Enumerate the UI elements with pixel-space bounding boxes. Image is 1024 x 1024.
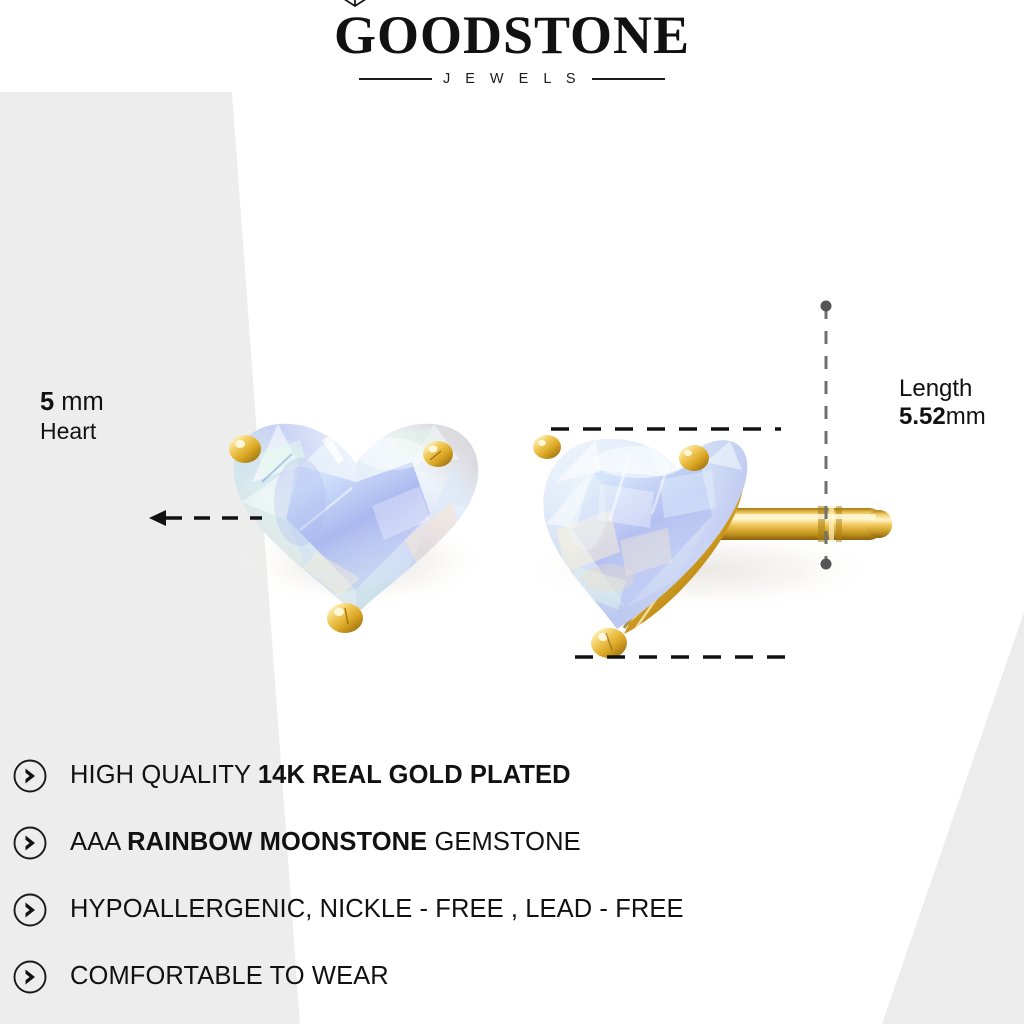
prong-bottom-front — [327, 603, 363, 633]
chevron-right-circle-icon — [12, 959, 48, 995]
feature-label: AAA RAINBOW MOONSTONE GEMSTONE — [70, 828, 581, 857]
brand-name: GOODSTONE — [334, 8, 690, 62]
width-value: 5 — [40, 388, 54, 416]
tagline-rule-right — [592, 78, 665, 80]
width-shape-label: Heart — [40, 416, 104, 447]
brand-logo: GOODSTONE J E W E L S — [0, 8, 1024, 87]
width-unit: mm — [54, 388, 104, 416]
length-annotation: Length 5.52mm — [899, 376, 986, 434]
feature-text-pre: AAA — [70, 828, 127, 856]
feature-item: AAA RAINBOW MOONSTONE GEMSTONE — [0, 809, 1024, 876]
length-value-line: 5.52mm — [899, 401, 986, 433]
width-annotation: 5 mm Heart — [40, 389, 104, 447]
feature-label: COMFORTABLE TO WEAR — [70, 962, 389, 991]
brand-tagline-group: J E W E L S — [359, 71, 665, 87]
product-photo — [0, 110, 1024, 670]
feature-text-post: GEMSTONE — [427, 828, 580, 856]
feature-item: COMFORTABLE TO WEAR — [0, 943, 1024, 1010]
feature-text-strong: RAINBOW MOONSTONE — [127, 828, 427, 856]
feature-text-pre: COMFORTABLE TO WEAR — [70, 962, 389, 990]
prong-top-left-front — [229, 435, 261, 463]
prong-top-left-side — [533, 435, 561, 459]
feature-item: HYPOALLERGENIC, NICKLE - FREE , LEAD - F… — [0, 876, 1024, 943]
prong-top-right-side — [679, 445, 709, 471]
feature-label: HYPOALLERGENIC, NICKLE - FREE , LEAD - F… — [70, 895, 684, 924]
brand-wordmark-group: GOODSTONE — [334, 8, 690, 62]
chevron-right-circle-icon — [12, 825, 48, 861]
length-label: Length — [899, 376, 986, 401]
length-value: 5.52 — [899, 403, 946, 430]
chevron-right-circle-icon — [12, 892, 48, 928]
tagline-rule-left — [359, 78, 432, 80]
earring-front-view — [229, 424, 478, 633]
feature-text-strong: 14K REAL GOLD PLATED — [258, 761, 571, 789]
prong-bottom-side — [591, 628, 627, 658]
brand-tagline: J E W E L S — [443, 71, 581, 87]
prong-top-right-front — [423, 441, 453, 467]
feature-item: HIGH QUALITY 14K REAL GOLD PLATED — [0, 742, 1024, 809]
feature-text-pre: HIGH QUALITY — [70, 761, 258, 789]
chevron-right-circle-icon — [12, 758, 48, 794]
feature-label: HIGH QUALITY 14K REAL GOLD PLATED — [70, 761, 571, 790]
crown-icon — [341, 0, 369, 11]
width-value-line: 5 mm — [40, 389, 104, 416]
width-dimension-arrow — [149, 510, 262, 526]
length-unit: mm — [946, 403, 986, 430]
feature-text-pre: HYPOALLERGENIC, NICKLE - FREE , LEAD - F… — [70, 895, 684, 923]
feature-list: HIGH QUALITY 14K REAL GOLD PLATED AAA RA… — [0, 742, 1024, 1010]
